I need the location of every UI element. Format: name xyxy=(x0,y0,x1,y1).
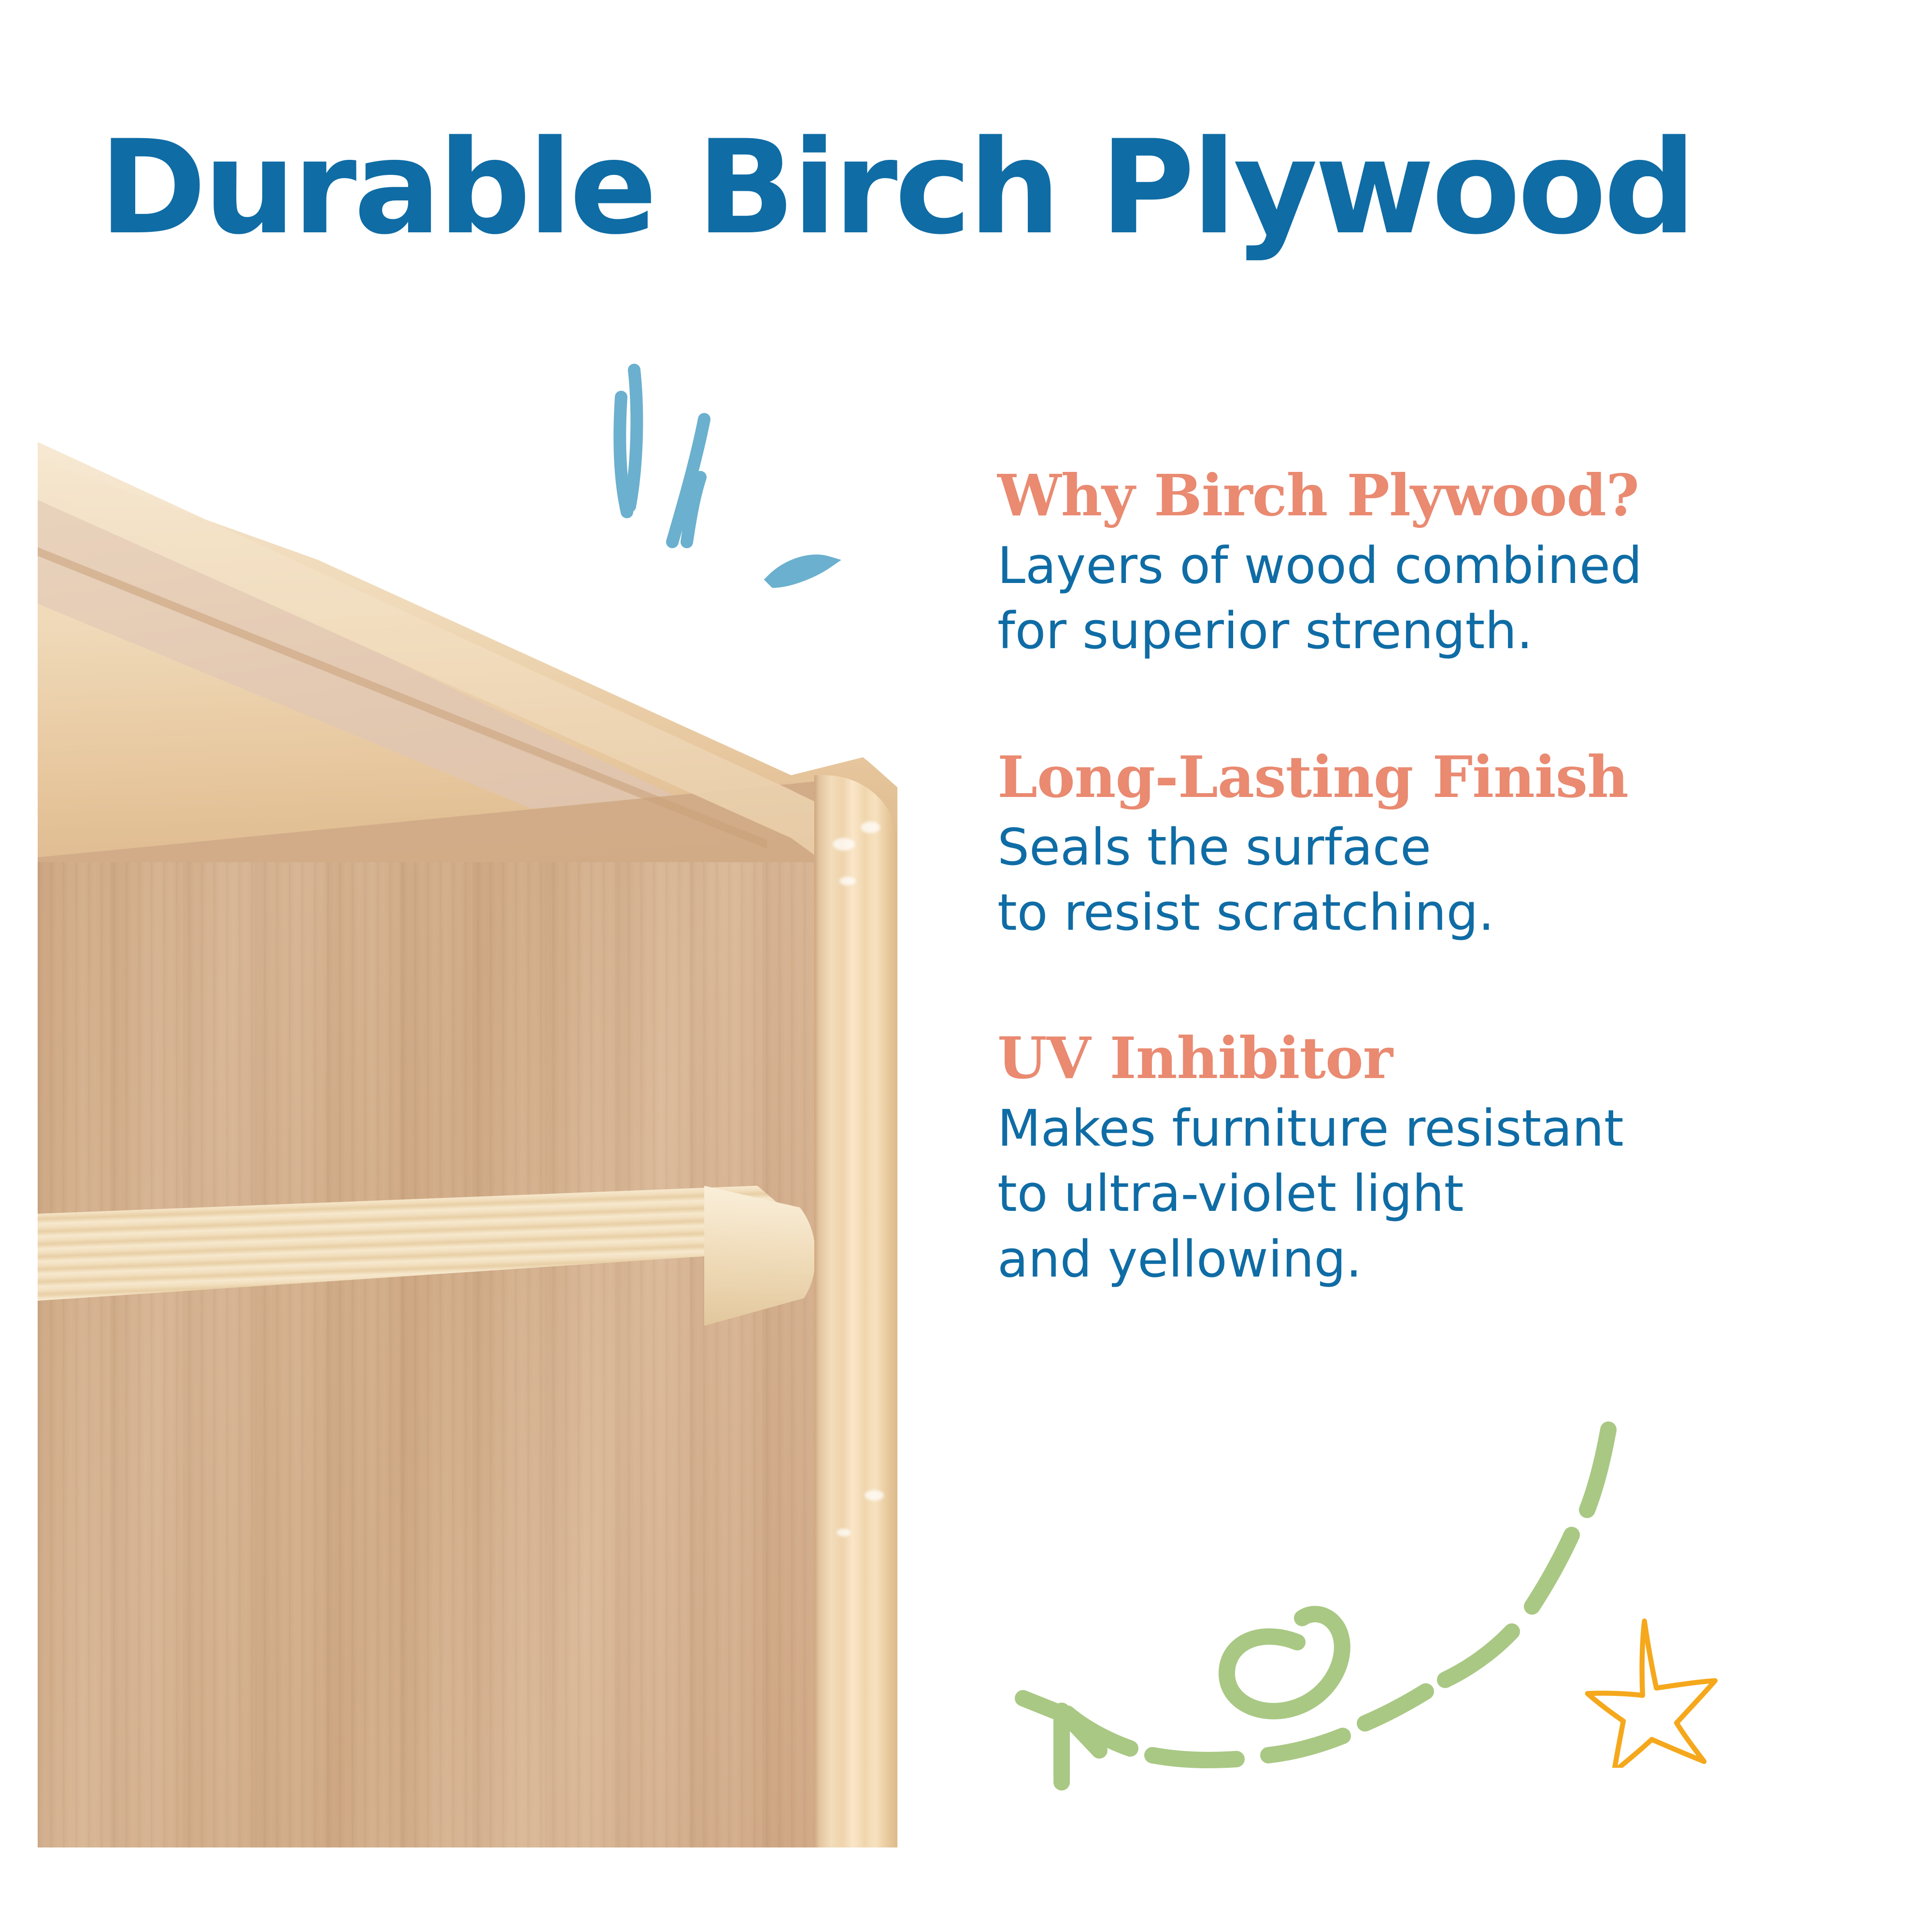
plywood-product-photo xyxy=(38,442,897,1847)
plywood-back-panel xyxy=(38,862,830,1847)
sparkle-lines-icon xyxy=(580,353,889,609)
feature-body-line: Makes furniture resistant xyxy=(997,1096,1876,1161)
feature-heading: Why Birch Plywood? xyxy=(997,464,1876,527)
feature-body-line: to resist scratching. xyxy=(997,880,1876,945)
feature-item: Why Birch Plywood? Layers of wood combin… xyxy=(997,464,1876,664)
feature-body: Layers of wood combined for superior str… xyxy=(997,533,1876,664)
feature-body-line: for superior strength. xyxy=(997,598,1876,664)
feature-body-line: and yellowing. xyxy=(997,1227,1876,1292)
feature-item: Long-Lasting Finish Seals the surface to… xyxy=(997,745,1876,946)
feature-heading: Long-Lasting Finish xyxy=(997,745,1876,809)
feature-body: Makes furniture resistant to ultra-viole… xyxy=(997,1096,1876,1292)
page-title: Durable Birch Plywood xyxy=(99,123,1838,253)
star-icon xyxy=(1582,1613,1736,1768)
curved-arrow-icon xyxy=(1009,1415,1647,1821)
feature-heading: UV Inhibitor xyxy=(997,1026,1876,1090)
feature-body-line: Seals the surface xyxy=(997,815,1876,880)
features-list: Why Birch Plywood? Layers of wood combin… xyxy=(997,464,1876,1292)
feature-body-line: to ultra-violet light xyxy=(997,1161,1876,1226)
feature-body: Seals the surface to resist scratching. xyxy=(997,815,1876,945)
feature-body-line: Layers of wood combined xyxy=(997,533,1876,598)
feature-item: UV Inhibitor Makes furniture resistant t… xyxy=(997,1026,1876,1292)
plywood-right-edge-plies xyxy=(814,775,897,1847)
infographic-canvas: Durable Birch Plywood xyxy=(0,0,1932,1932)
